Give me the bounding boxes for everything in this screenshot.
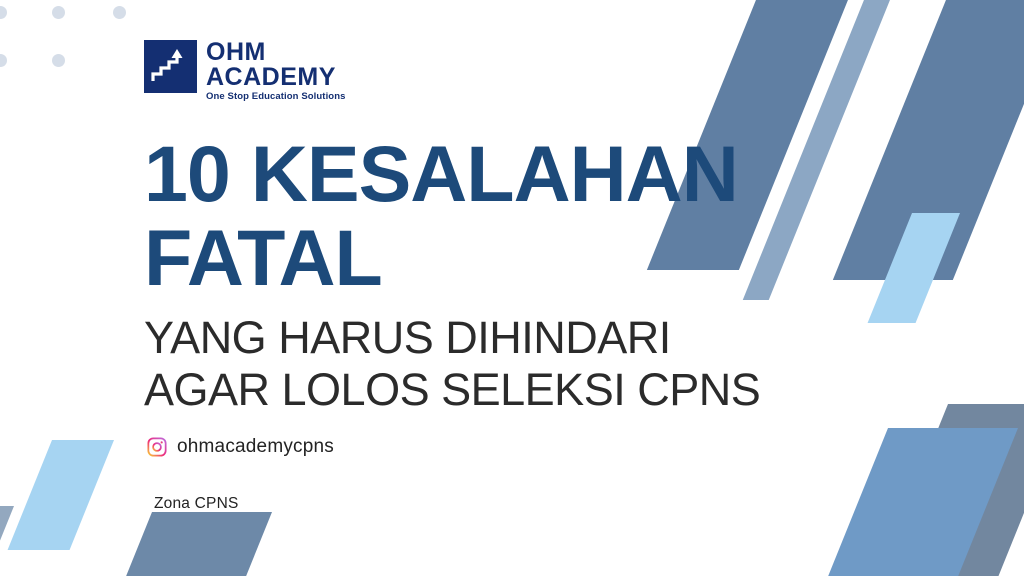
decor-band-sky [8, 440, 114, 550]
brand-logo-line2: ACADEMY [206, 65, 346, 90]
slide-canvas: OHM ACADEMY One Stop Education Solutions… [0, 0, 1024, 576]
social-handle-text: ohmacademycpns [177, 436, 334, 458]
decor-dot [0, 6, 7, 19]
page-title-line1: 10 KESALAHAN [144, 132, 844, 216]
decor-dot [52, 54, 65, 67]
page-subtitle: YANG HARUS DIHINDARI AGAR LOLOS SELEKSI … [144, 312, 760, 416]
decor-dot [52, 6, 65, 19]
decor-dot [0, 54, 7, 67]
instagram-icon [147, 437, 167, 457]
brand-tagline: One Stop Education Solutions [206, 92, 346, 102]
stairs-up-arrow-icon [144, 40, 197, 93]
decor-dot [113, 6, 126, 19]
social-handle[interactable]: ohmacademycpns [147, 436, 334, 458]
brand-logo: OHM ACADEMY One Stop Education Solutions [144, 40, 346, 102]
page-title-line2: FATAL [144, 216, 844, 300]
brand-logo-text: OHM ACADEMY One Stop Education Solutions [206, 40, 346, 102]
footer-label: Zona CPNS [154, 495, 239, 513]
decor-band-slate [120, 512, 272, 576]
brand-logo-line1: OHM [206, 40, 346, 65]
page-subtitle-line1: YANG HARUS DIHINDARI [144, 312, 760, 364]
page-title: 10 KESALAHAN FATAL [144, 132, 844, 300]
page-subtitle-line2: AGAR LOLOS SELEKSI CPNS [144, 364, 760, 416]
